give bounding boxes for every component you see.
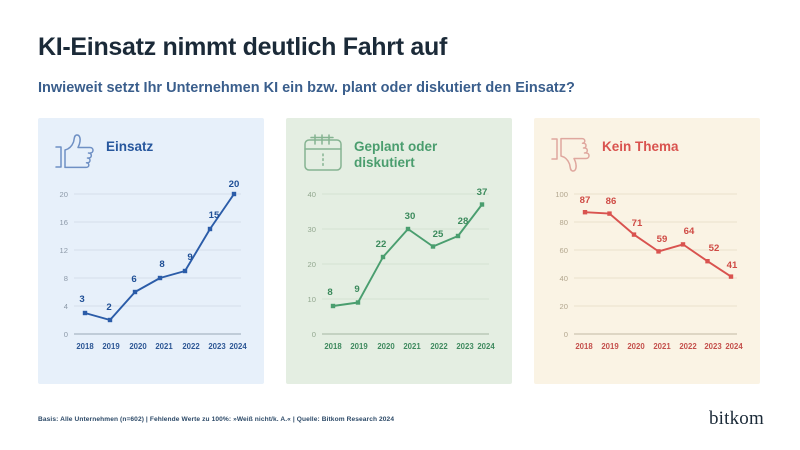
panel-kein-thema: Kein Thema 100 80 60 40 20 0 <box>534 118 760 384</box>
ytick-label: 4 <box>64 302 68 311</box>
data-label: 52 <box>709 243 720 254</box>
ytick-label: 30 <box>308 225 316 234</box>
xtick-label: 2022 <box>679 342 697 351</box>
data-label: 64 <box>684 226 695 237</box>
ytick-label: 8 <box>64 274 68 283</box>
data-label: 28 <box>458 216 469 227</box>
panel-geplant-header: Geplant oder diskutiert <box>300 130 494 182</box>
ytick-label: 0 <box>64 330 68 339</box>
xtick-label: 2020 <box>627 342 645 351</box>
data-label: 9 <box>187 252 192 263</box>
data-label: 87 <box>580 195 591 206</box>
xtick-label: 2023 <box>704 342 722 351</box>
xtick-label: 2022 <box>430 342 448 351</box>
data-label: 9 <box>354 284 359 295</box>
data-label: 41 <box>727 260 738 271</box>
data-label: 22 <box>376 239 387 250</box>
xtick-label: 2021 <box>155 342 173 351</box>
ytick-label: 12 <box>60 246 68 255</box>
xtick-label: 2020 <box>377 342 395 351</box>
panel-einsatz-header: Einsatz <box>52 130 153 182</box>
chart-panels: Einsatz 20 16 12 8 4 0 <box>38 118 760 384</box>
xtick-label: 2019 <box>601 342 619 351</box>
data-label: 59 <box>657 234 668 245</box>
xtick-label: 2024 <box>229 342 247 351</box>
ytick-label: 10 <box>308 295 316 304</box>
ytick-label: 80 <box>560 218 568 227</box>
ytick-label: 40 <box>308 190 316 199</box>
xtick-label: 2021 <box>653 342 671 351</box>
bitkom-logo: bitkom <box>709 408 764 430</box>
data-label: 6 <box>131 274 136 285</box>
data-label: 86 <box>606 196 617 207</box>
data-label: 25 <box>433 229 444 240</box>
chart-kein-thema: 100 80 60 40 20 0 <box>534 180 760 384</box>
panel-einsatz-title: Einsatz <box>106 130 153 155</box>
xtick-label: 2018 <box>76 342 94 351</box>
panel-kein-thema-title: Kein Thema <box>602 130 679 155</box>
thumbs-up-icon <box>52 130 98 176</box>
xtick-label: 2022 <box>182 342 200 351</box>
ytick-label: 40 <box>560 274 568 283</box>
data-label: 37 <box>477 187 488 198</box>
panel-kein-thema-header: Kein Thema <box>548 130 679 182</box>
ytick-label: 20 <box>308 260 316 269</box>
ytick-label: 0 <box>564 330 568 339</box>
ytick-label: 0 <box>312 330 316 339</box>
xtick-label: 2023 <box>208 342 226 351</box>
xtick-label: 2021 <box>403 342 421 351</box>
source-note: Basis: Alle Unternehmen (n=602) | Fehlen… <box>38 416 394 423</box>
data-label: 8 <box>159 259 165 270</box>
data-label: 20 <box>229 180 240 190</box>
xtick-label: 2019 <box>350 342 368 351</box>
ytick-label: 60 <box>560 246 568 255</box>
panel-geplant-title: Geplant oder diskutiert <box>354 130 494 171</box>
ytick-label: 20 <box>60 190 68 199</box>
xtick-label: 2024 <box>477 342 495 351</box>
page-title: KI-Einsatz nimmt deutlich Fahrt auf <box>38 33 447 62</box>
data-label: 8 <box>327 287 333 298</box>
xtick-label: 2018 <box>324 342 342 351</box>
data-label: 2 <box>106 302 111 313</box>
slide-root: KI-Einsatz nimmt deutlich Fahrt auf Inwi… <box>0 0 800 450</box>
page-subtitle: Inwieweit setzt Ihr Unternehmen KI ein b… <box>38 80 575 96</box>
panel-einsatz: Einsatz 20 16 12 8 4 0 <box>38 118 264 384</box>
xtick-label: 2023 <box>456 342 474 351</box>
chart-geplant: 40 30 20 10 0 8 <box>286 180 512 384</box>
data-label: 15 <box>209 210 220 221</box>
xtick-label: 2018 <box>575 342 593 351</box>
xtick-label: 2024 <box>725 342 743 351</box>
data-label: 30 <box>405 211 416 222</box>
ytick-label: 20 <box>560 302 568 311</box>
xtick-label: 2020 <box>129 342 147 351</box>
thumbs-down-icon <box>548 130 594 176</box>
xtick-label: 2019 <box>102 342 120 351</box>
chart-einsatz: 20 16 12 8 4 0 <box>38 180 264 384</box>
calendar-icon <box>300 130 346 176</box>
ytick-label: 100 <box>555 190 568 199</box>
data-label: 71 <box>632 218 643 229</box>
panel-geplant: Geplant oder diskutiert 40 30 20 10 0 <box>286 118 512 384</box>
data-label: 3 <box>79 294 84 305</box>
ytick-label: 16 <box>60 218 68 227</box>
